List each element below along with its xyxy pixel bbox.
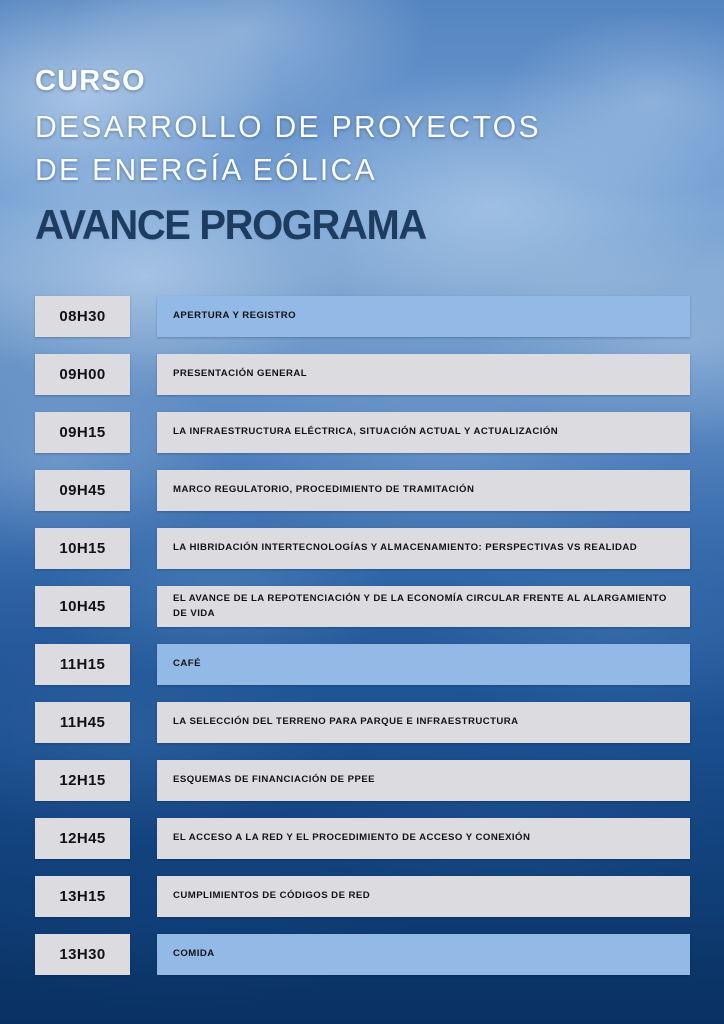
session-time: 11H45 [35,702,130,743]
session-topic: EL AVANCE DE LA REPOTENCIACIÓN Y DE LA E… [157,586,690,627]
session-topic: ESQUEMAS DE FINANCIACIÓN DE PPEE [157,760,690,801]
session-time: 08H30 [35,296,130,337]
session-time: 10H15 [35,528,130,569]
schedule-row: 09H00PRESENTACIÓN GENERAL [35,354,690,395]
session-topic: LA HIBRIDACIÓN INTERTECNOLOGÍAS Y ALMACE… [157,528,690,569]
schedule-row: 10H45EL AVANCE DE LA REPOTENCIACIÓN Y DE… [35,586,690,627]
course-title-line-2: DE ENERGÍA EÓLICA [35,149,656,191]
session-topic-label: CAFÉ [173,657,201,671]
schedule-list: 08H30APERTURA Y REGISTRO09H00PRESENTACIÓ… [35,296,690,992]
session-topic-label: EL AVANCE DE LA REPOTENCIACIÓN Y DE LA E… [173,592,674,621]
session-time: 13H30 [35,934,130,975]
session-topic: CUMPLIMIENTOS DE CÓDIGOS DE RED [157,876,690,917]
session-time: 12H45 [35,818,130,859]
session-topic-label: COMIDA [173,947,215,961]
poster-canvas: CURSO DESARROLLO DE PROYECTOS DE ENERGÍA… [0,0,724,1024]
schedule-row: 10H15LA HIBRIDACIÓN INTERTECNOLOGÍAS Y A… [35,528,690,569]
session-topic-label: EL ACCESO A LA RED Y EL PROCEDIMIENTO DE… [173,831,530,845]
session-topic-label: LA SELECCIÓN DEL TERRENO PARA PARQUE E I… [173,715,519,729]
session-time: 10H45 [35,586,130,627]
session-time: 09H45 [35,470,130,511]
session-topic-label: ESQUEMAS DE FINANCIACIÓN DE PPEE [173,773,375,787]
schedule-row: 13H30COMIDA [35,934,690,975]
schedule-row: 09H45MARCO REGULATORIO, PROCEDIMIENTO DE… [35,470,690,511]
session-topic-label: LA INFRAESTRUCTURA ELÉCTRICA, SITUACIÓN … [173,425,558,439]
course-title-line-1: DESARROLLO DE PROYECTOS [35,106,656,148]
session-time: 09H15 [35,412,130,453]
schedule-row: 11H15CAFÉ [35,644,690,685]
program-subtitle: AVANCE PROGRAMA [35,203,643,247]
session-time: 12H15 [35,760,130,801]
schedule-row: 12H45EL ACCESO A LA RED Y EL PROCEDIMIEN… [35,818,690,859]
schedule-row: 09H15LA INFRAESTRUCTURA ELÉCTRICA, SITUA… [35,412,690,453]
session-topic-highlight: COMIDA [157,934,690,975]
session-topic: EL ACCESO A LA RED Y EL PROCEDIMIENTO DE… [157,818,690,859]
session-topic-highlight: CAFÉ [157,644,690,685]
session-topic-label: CUMPLIMIENTOS DE CÓDIGOS DE RED [173,889,370,903]
session-time: 11H15 [35,644,130,685]
session-topic-highlight: APERTURA Y REGISTRO [157,296,690,337]
session-topic: PRESENTACIÓN GENERAL [157,354,690,395]
schedule-row: 11H45LA SELECCIÓN DEL TERRENO PARA PARQU… [35,702,690,743]
session-time: 13H15 [35,876,130,917]
course-eyebrow: CURSO [35,66,675,96]
session-topic-label: MARCO REGULATORIO, PROCEDIMIENTO DE TRAM… [173,483,474,497]
schedule-row: 13H15CUMPLIMIENTOS DE CÓDIGOS DE RED [35,876,690,917]
session-topic-label: LA HIBRIDACIÓN INTERTECNOLOGÍAS Y ALMACE… [173,541,637,555]
session-time: 09H00 [35,354,130,395]
session-topic-label: PRESENTACIÓN GENERAL [173,367,307,381]
schedule-row: 08H30APERTURA Y REGISTRO [35,296,690,337]
session-topic: LA SELECCIÓN DEL TERRENO PARA PARQUE E I… [157,702,690,743]
session-topic: MARCO REGULATORIO, PROCEDIMIENTO DE TRAM… [157,470,690,511]
session-topic-label: APERTURA Y REGISTRO [173,309,296,323]
poster-header: CURSO DESARROLLO DE PROYECTOS DE ENERGÍA… [35,66,675,247]
schedule-row: 12H15ESQUEMAS DE FINANCIACIÓN DE PPEE [35,760,690,801]
session-topic: LA INFRAESTRUCTURA ELÉCTRICA, SITUACIÓN … [157,412,690,453]
